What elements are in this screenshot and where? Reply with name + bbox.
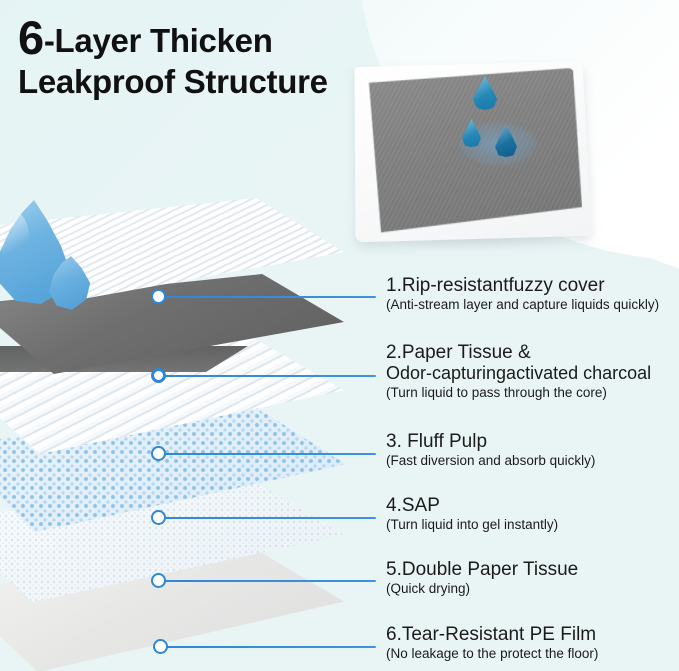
layer-label-4-title: 4.SAP [386, 495, 679, 516]
leader-stroke-1 [161, 296, 376, 298]
layer-label-3: 3. Fluff Pulp (Fast diversion and absorb… [386, 431, 679, 469]
layer-label-6: 6.Tear-Resistant PE Film (No leakage to … [386, 624, 679, 662]
layer-label-5: 5.Double Paper Tissue (Quick drying) [386, 559, 679, 597]
leader-stroke-2 [161, 375, 376, 377]
infographic-canvas: 6-Layer Thicken Leakproof Structure [0, 0, 679, 671]
layer-label-1-title: 1.Rip-resistantfuzzy cover [386, 275, 679, 296]
layer-label-4: 4.SAP (Turn liquid into gel instantly) [386, 495, 679, 533]
layer-label-6-title: 6.Tear-Resistant PE Film [386, 624, 679, 645]
layer-label-1-subtitle: (Anti-stream layer and capture liquids q… [386, 297, 679, 313]
leader-dot-2 [151, 368, 166, 383]
layer-label-3-title: 3. Fluff Pulp [386, 431, 679, 452]
layer-label-1: 1.Rip-resistantfuzzy cover (Anti-stream … [386, 275, 679, 313]
leader-stroke-6 [163, 646, 376, 648]
layer-label-5-title: 5.Double Paper Tissue [386, 559, 679, 580]
leader-stroke-4 [161, 517, 376, 519]
leader-stroke-5 [161, 580, 376, 582]
layer-label-3-subtitle: (Fast diversion and absorb quickly) [386, 453, 679, 469]
leader-dot-1 [151, 289, 166, 304]
layer-label-2-title-line2: Odor-capturingactivated charcoal [386, 363, 679, 384]
layer-label-6-subtitle: (No leakage to the protect the floor) [386, 646, 679, 662]
layer-label-5-subtitle: (Quick drying) [386, 581, 679, 597]
layer-label-4-subtitle: (Turn liquid into gel instantly) [386, 517, 679, 533]
layer-label-2: 2.Paper Tissue & Odor-capturingactivated… [386, 342, 679, 401]
leader-dot-6 [153, 639, 168, 654]
leader-dot-5 [151, 573, 166, 588]
layer-label-2-title: 2.Paper Tissue & [386, 342, 679, 363]
leader-dot-3 [151, 446, 166, 461]
layer-label-2-subtitle: (Turn liquid to pass through the core) [386, 385, 679, 401]
leader-stroke-3 [161, 453, 376, 455]
layer-labels: 1.Rip-resistantfuzzy cover (Anti-stream … [386, 0, 679, 671]
leader-dot-4 [151, 510, 166, 525]
